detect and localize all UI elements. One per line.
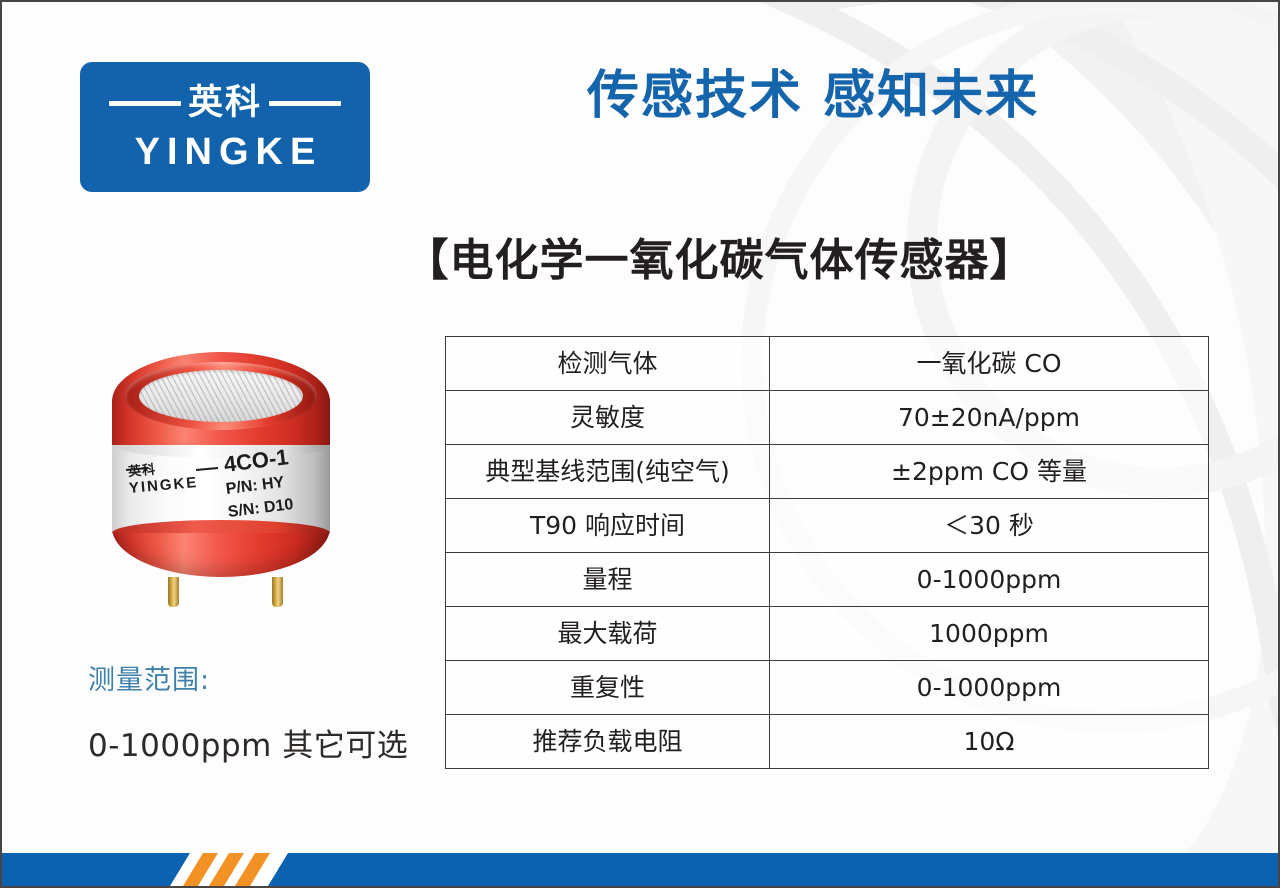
spec-value: 70±20nA/ppm: [770, 391, 1209, 445]
table-row: T90 响应时间 ＜30 秒: [446, 499, 1209, 553]
spec-value: ＜30 秒: [770, 499, 1209, 553]
table-row: 重复性 0-1000ppm: [446, 661, 1209, 715]
product-photo-sensor: 英科 YINGKE 4CO-1 P/N: HY S/N: D10: [112, 352, 362, 607]
spec-key: 最大载荷: [446, 607, 770, 661]
specification-table-body: 检测气体 一氧化碳 CO 灵敏度 70±20nA/ppm 典型基线范围(纯空气)…: [446, 337, 1209, 769]
spec-key: 量程: [446, 553, 770, 607]
table-row: 量程 0-1000ppm: [446, 553, 1209, 607]
company-slogan: 传感技术 感知未来: [587, 64, 1147, 129]
page-title: 【电化学一氧化碳气体传感器】: [2, 224, 1280, 288]
table-row: 最大载荷 1000ppm: [446, 607, 1209, 661]
spec-value: 一氧化碳 CO: [770, 337, 1209, 391]
company-logo: 英科 YINGKE: [80, 62, 370, 192]
poster-page: 英科 YINGKE 传感技术 感知未来 【电化学一氧化碳气体传感器】 英科 YI…: [0, 0, 1280, 888]
footer-stripes-decoration: [170, 853, 288, 886]
table-row: 典型基线范围(纯空气) ±2ppm CO 等量: [446, 445, 1209, 499]
spec-value: 10Ω: [770, 715, 1209, 769]
spec-value: 1000ppm: [770, 607, 1209, 661]
sensor-pin-right-icon: [272, 577, 283, 607]
logo-chinese-name: 英科: [188, 86, 262, 121]
specification-table: 检测气体 一氧化碳 CO 灵敏度 70±20nA/ppm 典型基线范围(纯空气)…: [445, 336, 1209, 769]
spec-key: 检测气体: [446, 337, 770, 391]
spec-key: 重复性: [446, 661, 770, 715]
table-row: 灵敏度 70±20nA/ppm: [446, 391, 1209, 445]
logo-english-name: YINGKE: [128, 133, 323, 171]
sensor-pin-left-icon: [168, 577, 179, 607]
spec-key: 典型基线范围(纯空气): [446, 445, 770, 499]
spec-key: 灵敏度: [446, 391, 770, 445]
sensor-label-brand-cn: 英科: [127, 459, 157, 480]
table-row: 检测气体 一氧化碳 CO: [446, 337, 1209, 391]
spec-value: 0-1000ppm: [770, 553, 1209, 607]
sensor-mesh-face: [139, 370, 303, 422]
logo-dash-right-icon: [269, 101, 341, 106]
spec-key: 推荐负载电阻: [446, 715, 770, 769]
measurement-range-label: 测量范围:: [88, 658, 210, 697]
table-row: 推荐负载电阻 10Ω: [446, 715, 1209, 769]
measurement-range-value: 0-1000ppm 其它可选: [88, 720, 408, 765]
logo-top-row: 英科: [80, 86, 370, 121]
spec-value: ±2ppm CO 等量: [770, 445, 1209, 499]
logo-dash-left-icon: [109, 101, 181, 106]
spec-value: 0-1000ppm: [770, 661, 1209, 715]
spec-key: T90 响应时间: [446, 499, 770, 553]
